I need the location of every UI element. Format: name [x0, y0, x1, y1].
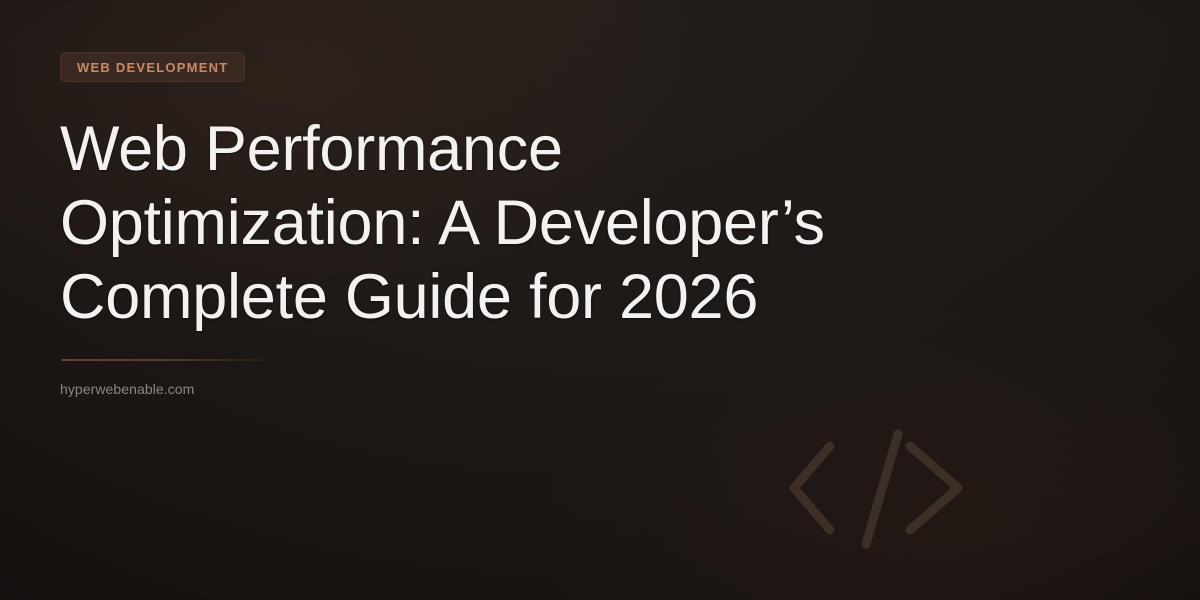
category-badge: WEB DEVELOPMENT	[60, 52, 245, 82]
headline-line-3: Complete Guide for 2026	[60, 260, 940, 334]
card-content: WEB DEVELOPMENT Web Performance Optimiza…	[60, 0, 1060, 600]
site-domain: hyperwebenable.com	[60, 381, 194, 397]
page-title: Web Performance Optimization: A Develope…	[60, 112, 940, 334]
og-share-card: WEB DEVELOPMENT Web Performance Optimiza…	[0, 0, 1200, 600]
headline-line-2: Optimization: A Developer’s	[60, 186, 940, 260]
headline-line-1: Web Performance	[60, 112, 940, 186]
accent-divider	[61, 359, 269, 361]
